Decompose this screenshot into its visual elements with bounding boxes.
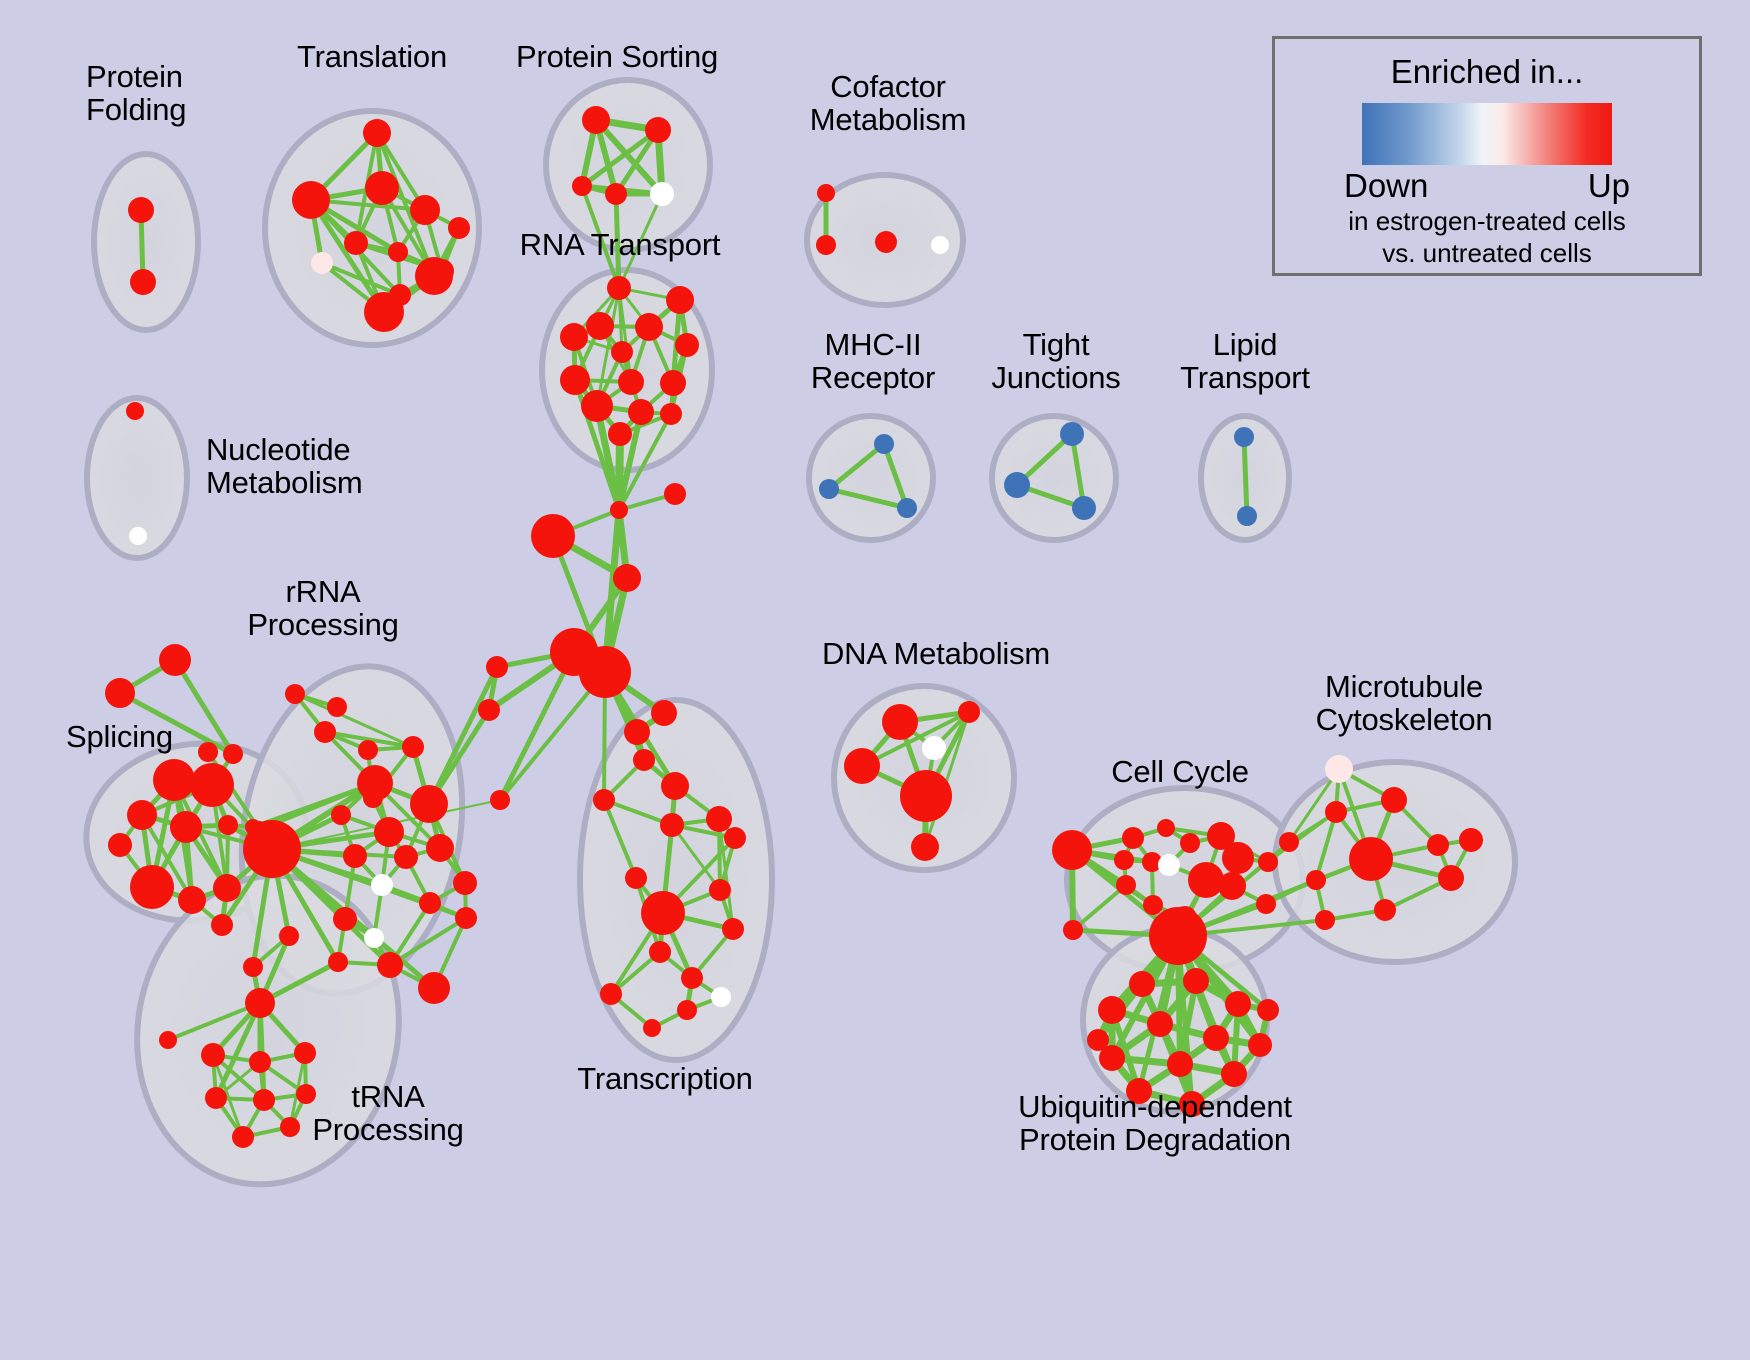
network-node[interactable] — [448, 217, 470, 239]
network-node[interactable] — [1234, 427, 1254, 447]
cluster-label-line: MHC-II — [811, 328, 935, 361]
cluster-label-line: Junctions — [991, 361, 1120, 394]
cluster-label-line: Cofactor — [810, 70, 967, 103]
cluster-label-mhc-ii-receptor: MHC-IIReceptor — [811, 328, 935, 395]
network-node[interactable] — [418, 972, 450, 1004]
network-node[interactable] — [572, 176, 592, 196]
network-node[interactable] — [243, 957, 263, 977]
network-node[interactable] — [374, 817, 404, 847]
network-node[interactable] — [643, 1019, 661, 1037]
cluster-label-line: Processing — [247, 608, 398, 641]
network-node[interactable] — [675, 333, 699, 357]
network-node[interactable] — [1427, 834, 1449, 856]
network-node[interactable] — [402, 736, 424, 758]
network-node[interactable] — [1237, 506, 1257, 526]
cluster-label-cofactor-metabolism: CofactorMetabolism — [810, 70, 967, 137]
legend-subtitle-line2: vs. untreated cells — [1275, 239, 1699, 269]
network-node[interactable] — [128, 197, 154, 223]
network-node[interactable] — [1374, 899, 1396, 921]
network-node[interactable] — [455, 907, 477, 929]
network-node[interactable] — [1060, 422, 1084, 446]
network-node[interactable] — [1087, 1029, 1109, 1051]
network-node[interactable] — [660, 370, 686, 396]
network-node[interactable] — [624, 719, 650, 745]
network-node[interactable] — [645, 117, 671, 143]
network-node[interactable] — [279, 926, 299, 946]
network-node[interactable] — [198, 742, 218, 762]
network-node[interactable] — [126, 402, 144, 420]
cluster-label-line: rRNA — [247, 575, 398, 608]
network-node[interactable] — [253, 1089, 275, 1111]
network-node[interactable] — [328, 952, 348, 972]
network-node[interactable] — [365, 171, 399, 205]
cluster-label-line: Protein Degradation — [1018, 1123, 1292, 1156]
cluster-label-rna-transport: RNA Transport — [520, 228, 721, 261]
cluster-label-line: Protein Sorting — [516, 40, 718, 73]
network-node[interactable] — [651, 700, 677, 726]
network-node[interactable] — [357, 765, 393, 801]
network-node[interactable] — [1256, 894, 1276, 914]
network-node[interactable] — [641, 891, 685, 935]
network-node[interactable] — [1149, 907, 1207, 965]
network-node[interactable] — [874, 434, 894, 454]
network-node[interactable] — [1203, 1025, 1229, 1051]
network-node[interactable] — [377, 952, 403, 978]
network-node[interactable] — [1157, 819, 1175, 837]
network-node[interactable] — [875, 231, 897, 253]
network-node[interactable] — [394, 845, 418, 869]
network-node[interactable] — [560, 323, 588, 351]
network-node[interactable] — [1222, 842, 1254, 874]
legend-low-label: Down — [1344, 167, 1428, 205]
network-node[interactable] — [364, 292, 404, 332]
network-node[interactable] — [1306, 870, 1326, 890]
cluster-hull-mhc-ii-receptor[interactable] — [809, 416, 933, 540]
cluster-label-line: Tight — [991, 328, 1120, 361]
network-node[interactable] — [105, 678, 135, 708]
network-node[interactable] — [343, 844, 367, 868]
network-node[interactable] — [593, 789, 615, 811]
network-node[interactable] — [677, 1000, 697, 1020]
cluster-label-ubiquitin-degradation: Ubiquitin-dependentProtein Degradation — [1018, 1090, 1292, 1157]
network-node[interactable] — [1183, 968, 1209, 994]
network-node[interactable] — [478, 699, 500, 721]
cluster-label-dna-metabolism: DNA Metabolism — [822, 637, 1050, 670]
network-node[interactable] — [243, 820, 301, 878]
cluster-label-line: Cell Cycle — [1111, 755, 1249, 788]
network-node[interactable] — [190, 763, 234, 807]
network-node[interactable] — [958, 701, 980, 723]
network-node[interactable] — [586, 312, 614, 340]
network-node[interactable] — [581, 390, 613, 422]
legend-endpoints: Down Up — [1344, 167, 1630, 205]
network-node[interactable] — [1225, 991, 1251, 1017]
network-node[interactable] — [490, 790, 510, 810]
network-node[interactable] — [292, 181, 330, 219]
cluster-label-line: Lipid — [1180, 328, 1310, 361]
cluster-label-line: Metabolism — [206, 466, 363, 499]
network-node[interactable] — [722, 918, 744, 940]
network-node[interactable] — [650, 182, 674, 206]
network-node[interactable] — [371, 874, 393, 896]
network-node[interactable] — [1129, 971, 1155, 997]
network-node[interactable] — [625, 867, 647, 889]
network-node[interactable] — [130, 865, 174, 909]
network-node[interactable] — [211, 914, 233, 936]
network-node[interactable] — [1114, 850, 1134, 870]
network-node[interactable] — [660, 813, 684, 837]
network-node[interactable] — [153, 759, 195, 801]
network-node[interactable] — [159, 644, 191, 676]
cluster-hull-protein-folding[interactable] — [94, 154, 198, 330]
network-node[interactable] — [618, 369, 644, 395]
cluster-label-line: Translation — [297, 40, 447, 73]
network-node[interactable] — [327, 697, 347, 717]
cluster-label-line: Processing — [312, 1113, 463, 1146]
network-edge — [1244, 437, 1247, 516]
network-node[interactable] — [844, 748, 880, 784]
network-node[interactable] — [582, 106, 610, 134]
cluster-label-microtubule-cytoskeleton: MicrotubuleCytoskeleton — [1316, 670, 1493, 737]
cluster-label-line: RNA Transport — [520, 228, 721, 261]
cluster-label-protein-sorting: Protein Sorting — [516, 40, 718, 73]
network-node[interactable] — [218, 815, 238, 835]
network-node[interactable] — [635, 313, 663, 341]
network-node[interactable] — [1167, 1051, 1193, 1077]
network-node[interactable] — [666, 286, 694, 314]
network-node[interactable] — [1279, 832, 1299, 852]
network-node[interactable] — [611, 341, 633, 363]
network-node[interactable] — [660, 403, 682, 425]
network-node[interactable] — [245, 988, 275, 1018]
network-node[interactable] — [364, 928, 384, 948]
network-node[interactable] — [1063, 920, 1083, 940]
network-node[interactable] — [664, 483, 686, 505]
network-node[interactable] — [178, 886, 206, 914]
network-node[interactable] — [605, 183, 627, 205]
network-node[interactable] — [610, 501, 628, 519]
network-diagram-canvas: ProteinFoldingTranslationProtein Sorting… — [0, 0, 1750, 1360]
network-node[interactable] — [649, 941, 671, 963]
cluster-label-cell-cycle: Cell Cycle — [1111, 755, 1249, 788]
cluster-label-protein-folding: ProteinFolding — [86, 60, 186, 127]
network-node[interactable] — [280, 1117, 300, 1137]
network-node[interactable] — [1072, 496, 1096, 520]
cluster-hull-protein-sorting[interactable] — [546, 80, 710, 250]
network-node[interactable] — [314, 721, 336, 743]
network-node[interactable] — [911, 833, 939, 861]
network-node[interactable] — [410, 785, 448, 823]
network-node[interactable] — [900, 770, 952, 822]
network-node[interactable] — [344, 231, 368, 255]
network-node[interactable] — [1248, 1033, 1272, 1057]
network-node[interactable] — [201, 1043, 225, 1067]
cluster-label-transcription: Transcription — [577, 1062, 752, 1095]
network-node[interactable] — [633, 749, 655, 771]
network-node[interactable] — [127, 800, 157, 830]
network-node[interactable] — [724, 827, 746, 849]
cluster-label-nucleotide-metabolism: NucleotideMetabolism — [206, 433, 363, 500]
network-node[interactable] — [415, 257, 453, 295]
network-node[interactable] — [817, 184, 835, 202]
network-node[interactable] — [363, 119, 391, 147]
network-node[interactable] — [1258, 852, 1278, 872]
cluster-label-line: Nucleotide — [206, 433, 363, 466]
network-node[interactable] — [358, 740, 378, 760]
network-node[interactable] — [1098, 996, 1126, 1024]
network-node[interactable] — [1221, 1061, 1247, 1087]
network-node[interactable] — [600, 983, 622, 1005]
cluster-label-translation: Translation — [297, 40, 447, 73]
network-node[interactable] — [108, 833, 132, 857]
network-node[interactable] — [711, 987, 731, 1007]
network-node[interactable] — [1052, 830, 1092, 870]
network-node[interactable] — [628, 399, 654, 425]
cluster-label-tight-junctions: TightJunctions — [991, 328, 1120, 395]
network-node[interactable] — [285, 684, 305, 704]
network-node[interactable] — [1004, 472, 1030, 498]
network-node[interactable] — [311, 252, 333, 274]
network-node[interactable] — [1218, 872, 1246, 900]
network-node[interactable] — [1122, 827, 1144, 849]
network-node[interactable] — [1257, 999, 1279, 1021]
network-node[interactable] — [1349, 837, 1393, 881]
network-node[interactable] — [205, 1087, 227, 1109]
cluster-label-line: Protein — [86, 60, 186, 93]
network-node[interactable] — [1438, 865, 1464, 891]
network-node[interactable] — [232, 1126, 254, 1148]
network-node[interactable] — [661, 772, 689, 800]
network-node[interactable] — [1158, 854, 1180, 876]
network-node[interactable] — [388, 242, 408, 262]
network-node[interactable] — [931, 236, 949, 254]
network-node[interactable] — [159, 1031, 177, 1049]
network-node[interactable] — [249, 1051, 271, 1073]
cluster-label-line: DNA Metabolism — [822, 637, 1050, 670]
network-node[interactable] — [453, 871, 477, 895]
cluster-label-trna-processing: tRNAProcessing — [312, 1080, 463, 1147]
network-node[interactable] — [1325, 801, 1347, 823]
cluster-label-line: Splicing — [66, 720, 173, 753]
network-node[interactable] — [129, 527, 147, 545]
cluster-label-line: Receptor — [811, 361, 935, 394]
network-node[interactable] — [1315, 910, 1335, 930]
network-node[interactable] — [1147, 1011, 1173, 1037]
cluster-label-splicing: Splicing — [66, 720, 173, 753]
legend-subtitle-line1: in estrogen-treated cells — [1275, 207, 1699, 237]
network-node[interactable] — [223, 744, 243, 764]
network-node[interactable] — [531, 514, 575, 558]
network-node[interactable] — [1188, 862, 1224, 898]
network-node[interactable] — [816, 235, 836, 255]
cluster-label-line: tRNA — [312, 1080, 463, 1113]
cluster-label-line: Microtubule — [1316, 670, 1493, 703]
network-node[interactable] — [706, 806, 732, 832]
network-node[interactable] — [709, 879, 731, 901]
network-node[interactable] — [882, 704, 918, 740]
network-node[interactable] — [410, 195, 440, 225]
network-node[interactable] — [213, 874, 241, 902]
cluster-label-line: Ubiquitin-dependent — [1018, 1090, 1292, 1123]
network-node[interactable] — [170, 811, 202, 843]
network-node[interactable] — [922, 736, 946, 760]
cluster-label-line: Transcription — [577, 1062, 752, 1095]
network-node[interactable] — [130, 269, 156, 295]
cluster-label-line: Metabolism — [810, 103, 967, 136]
network-node[interactable] — [486, 656, 508, 678]
network-node[interactable] — [1459, 828, 1483, 852]
network-node[interactable] — [1180, 833, 1200, 853]
cluster-label-rrna-processing: rRNAProcessing — [247, 575, 398, 642]
network-node[interactable] — [419, 892, 441, 914]
legend-title: Enriched in... — [1275, 53, 1699, 91]
legend-high-label: Up — [1588, 167, 1630, 205]
legend-panel: Enriched in... Down Up in estrogen-treat… — [1272, 36, 1702, 276]
network-node[interactable] — [607, 276, 631, 300]
cluster-label-line: Cytoskeleton — [1316, 703, 1493, 736]
network-node[interactable] — [560, 365, 590, 395]
network-node[interactable] — [1381, 787, 1407, 813]
network-node[interactable] — [331, 805, 351, 825]
network-node[interactable] — [1325, 755, 1353, 783]
network-node[interactable] — [333, 907, 357, 931]
network-node[interactable] — [294, 1042, 316, 1064]
cluster-label-line: Folding — [86, 93, 186, 126]
network-node[interactable] — [819, 479, 839, 499]
network-node[interactable] — [1143, 895, 1163, 915]
network-node[interactable] — [897, 498, 917, 518]
cluster-label-lipid-transport: LipidTransport — [1180, 328, 1310, 395]
network-node[interactable] — [579, 646, 631, 698]
cluster-label-line: Transport — [1180, 361, 1310, 394]
network-node[interactable] — [608, 422, 632, 446]
network-node[interactable] — [426, 834, 454, 862]
network-node[interactable] — [613, 564, 641, 592]
network-node[interactable] — [1116, 875, 1136, 895]
legend-color-gradient-bar — [1362, 103, 1612, 165]
cluster-hull-transcription[interactable] — [580, 700, 772, 1060]
network-node[interactable] — [681, 967, 703, 989]
